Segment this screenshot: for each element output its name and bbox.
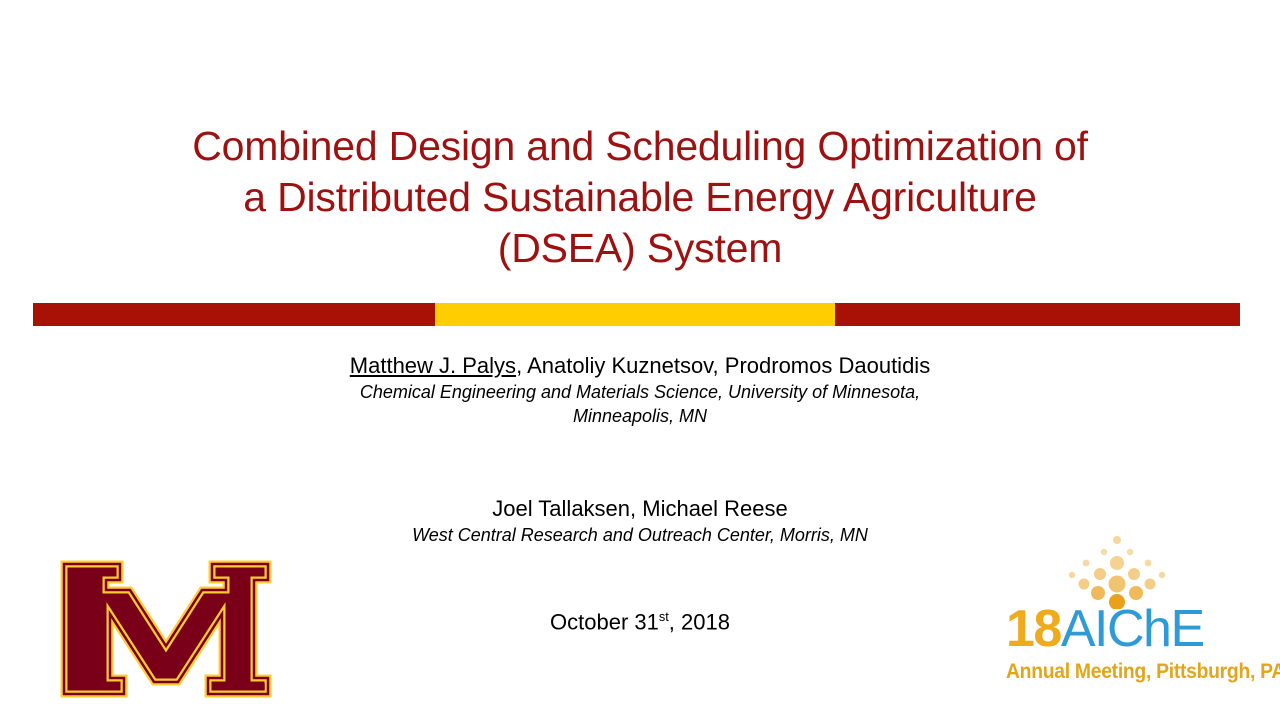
aiche-dot-fountain-icon — [1062, 531, 1172, 609]
affiliation-primary-line-2: Minneapolis, MN — [64, 404, 1216, 428]
coauthor-names: , Anatoliy Kuznetsov, Prodromos Daoutidi… — [516, 353, 930, 378]
date-prefix: October 31 — [550, 609, 659, 634]
divider-segment-middle — [435, 303, 835, 326]
author-group-primary: Matthew J. Palys, Anatoliy Kuznetsov, Pr… — [64, 351, 1216, 428]
divider-segment-right — [835, 303, 1240, 326]
trademark-symbol: TM — [252, 682, 266, 692]
author-names-primary: Matthew J. Palys, Anatoliy Kuznetsov, Pr… — [64, 351, 1216, 380]
divider-bar — [33, 303, 1240, 326]
divider-segment-left — [33, 303, 435, 326]
aiche-2018-annual-meeting-logo: 18AIChE Annual Meeting, Pittsburgh, PA — [1000, 531, 1262, 699]
author-names-secondary: Joel Tallaksen, Michael Reese — [64, 494, 1216, 523]
date-ordinal-suffix: st — [659, 609, 669, 624]
affiliation-primary-line-1: Chemical Engineering and Materials Scien… — [64, 380, 1216, 404]
title-line-1: Combined Design and Scheduling Optimizat… — [64, 121, 1216, 172]
presenting-author-name: Matthew J. Palys — [350, 353, 516, 378]
aiche-year-text: 18 — [1006, 600, 1061, 658]
title-line-2: a Distributed Sustainable Energy Agricul… — [64, 172, 1216, 223]
page-title: Combined Design and Scheduling Optimizat… — [64, 121, 1216, 274]
aiche-wordmark: 18AIChE — [1006, 605, 1262, 653]
title-line-3: (DSEA) System — [64, 223, 1216, 274]
university-of-minnesota-m-logo — [58, 554, 274, 704]
aiche-tagline: Annual Meeting, Pittsburgh, PA — [1006, 660, 1242, 684]
date-suffix: , 2018 — [669, 609, 730, 634]
aiche-org-text: AIChE — [1061, 600, 1204, 658]
